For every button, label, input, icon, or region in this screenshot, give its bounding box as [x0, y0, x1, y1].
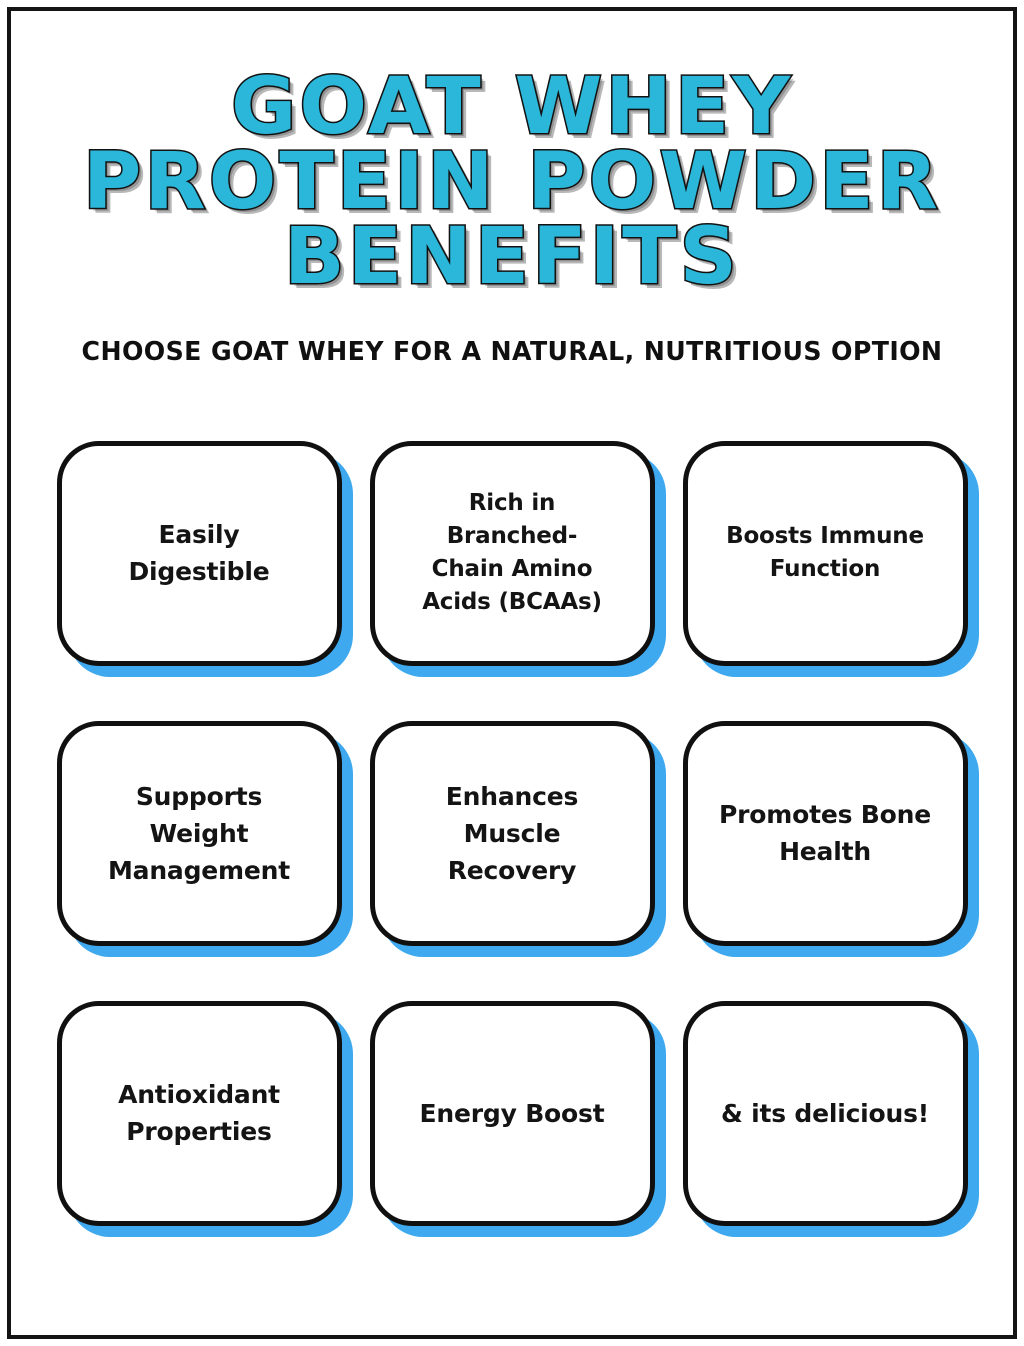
page-title: GOAT WHEY PROTEIN POWDER BENEFITS — [40, 0, 984, 295]
benefit-card-face: Energy Boost — [370, 1001, 655, 1226]
benefit-card-weight-management: Supports Weight Management — [57, 721, 342, 946]
benefit-card-face: Supports Weight Management — [57, 721, 342, 946]
benefit-card-face: Enhances Muscle Recovery — [370, 721, 655, 946]
benefit-card-easily-digestible: Easily Digestible — [57, 441, 342, 666]
page-subtitle: CHOOSE GOAT WHEY FOR A NATURAL, NUTRITIO… — [54, 337, 970, 367]
benefit-card-muscle-recovery: Enhances Muscle Recovery — [370, 721, 655, 946]
benefit-card-label: Energy Boost — [420, 1095, 605, 1132]
title-line-3: BENEFITS — [31, 220, 994, 295]
benefit-card-label: Easily Digestible — [129, 516, 270, 590]
benefit-card-face: & its delicious! — [683, 1001, 968, 1226]
benefit-card-antioxidant-properties: Antioxidant Properties — [57, 1001, 342, 1226]
benefit-card-face: Antioxidant Properties — [57, 1001, 342, 1226]
benefit-card-bcaas: Rich in Branched- Chain Amino Acids (BCA… — [370, 441, 655, 666]
poster-content: GOAT WHEY PROTEIN POWDER BENEFITS CHOOSE… — [0, 0, 1024, 1226]
title-line-1: GOAT WHEY — [31, 70, 994, 145]
benefit-card-label: Enhances Muscle Recovery — [446, 778, 578, 889]
benefit-card-label: Rich in Branched- Chain Amino Acids (BCA… — [422, 487, 602, 619]
benefit-card-face: Easily Digestible — [57, 441, 342, 666]
benefit-card-face: Boosts Immune Function — [683, 441, 968, 666]
benefit-card-label: & its delicious! — [721, 1095, 929, 1132]
benefit-card-label: Antioxidant Properties — [118, 1076, 280, 1150]
benefits-grid: Easily Digestible Rich in Branched- Chai… — [40, 441, 984, 1226]
infographic-poster: GOAT WHEY PROTEIN POWDER BENEFITS CHOOSE… — [0, 0, 1024, 1346]
benefit-card-bone-health: Promotes Bone Health — [683, 721, 968, 946]
benefit-card-delicious: & its delicious! — [683, 1001, 968, 1226]
title-line-2: PROTEIN POWDER — [31, 145, 994, 220]
benefit-card-label: Boosts Immune Function — [726, 520, 924, 586]
benefit-card-immune-function: Boosts Immune Function — [683, 441, 968, 666]
benefit-card-energy-boost: Energy Boost — [370, 1001, 655, 1226]
benefit-card-face: Rich in Branched- Chain Amino Acids (BCA… — [370, 441, 655, 666]
benefit-card-face: Promotes Bone Health — [683, 721, 968, 946]
benefit-card-label: Supports Weight Management — [108, 778, 290, 889]
benefit-card-label: Promotes Bone Health — [719, 796, 931, 870]
